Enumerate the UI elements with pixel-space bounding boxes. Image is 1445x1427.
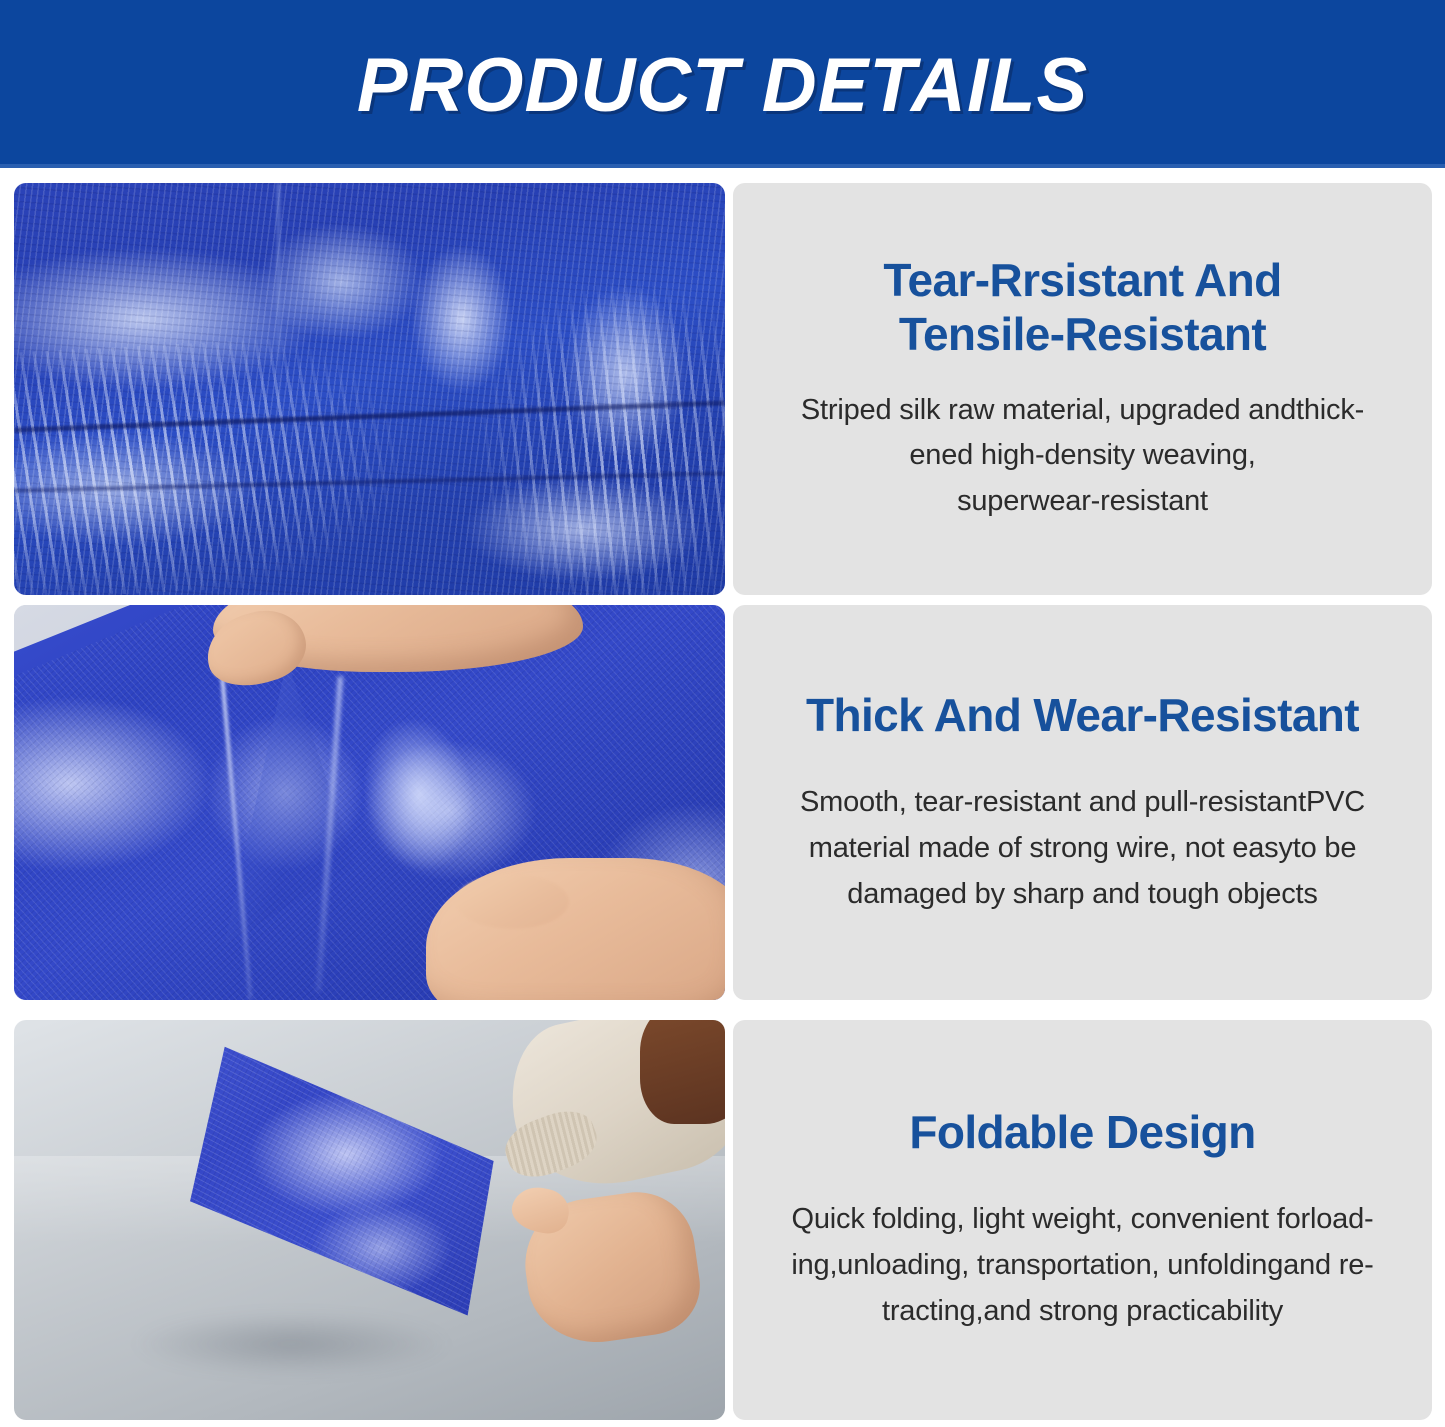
feature-text-card-2: Thick And Wear-Resistant Smooth, tear-re… <box>733 605 1432 1000</box>
bundle-drop-shadow <box>71 1300 512 1388</box>
feature-title-3: Foldable Design <box>909 1105 1255 1159</box>
feature-row-3: Foldable Design Quick folding, light wei… <box>0 1020 1445 1420</box>
feature-title-1: Tear-Rrsistant And Tensile-Resistant <box>883 253 1281 362</box>
product-details-infographic: PRODUCT DETAILS Tear-Rrsistant And Tensi… <box>0 0 1445 1427</box>
tarp-highlight-streaks-right <box>430 264 725 595</box>
tarp-fold-line <box>277 183 280 422</box>
header-banner: PRODUCT DETAILS <box>0 0 1445 168</box>
hand-lower-knuckles <box>455 874 569 929</box>
feature-title-2: Thick And Wear-Resistant <box>806 688 1359 742</box>
feature-body-1: Striped silk raw material, upgraded andt… <box>801 388 1364 525</box>
person-hair <box>640 1020 725 1124</box>
feature-body-2: Smooth, tear-resistant and pull-resistan… <box>800 780 1365 917</box>
hands-photo-base <box>14 605 725 1000</box>
folded-tarp-photo-base <box>14 1020 725 1420</box>
feature-text-card-3: Foldable Design Quick folding, light wei… <box>733 1020 1432 1420</box>
folded-tarp-held-photo <box>14 1020 725 1420</box>
feature-text-card-1: Tear-Rrsistant And Tensile-Resistant Str… <box>733 183 1432 595</box>
page-title: PRODUCT DETAILS <box>0 42 1445 129</box>
feature-row-1: Tear-Rrsistant And Tensile-Resistant Str… <box>0 183 1445 595</box>
feature-body-3: Quick folding, light weight, convenient … <box>791 1197 1373 1334</box>
hands-pulling-tarp-photo <box>14 605 725 1000</box>
tarp-texture-closeup-photo <box>14 183 725 595</box>
banner-underline-divider <box>0 164 1445 168</box>
feature-row-2: Thick And Wear-Resistant Smooth, tear-re… <box>0 605 1445 1000</box>
tarp-texture-base <box>14 183 725 595</box>
